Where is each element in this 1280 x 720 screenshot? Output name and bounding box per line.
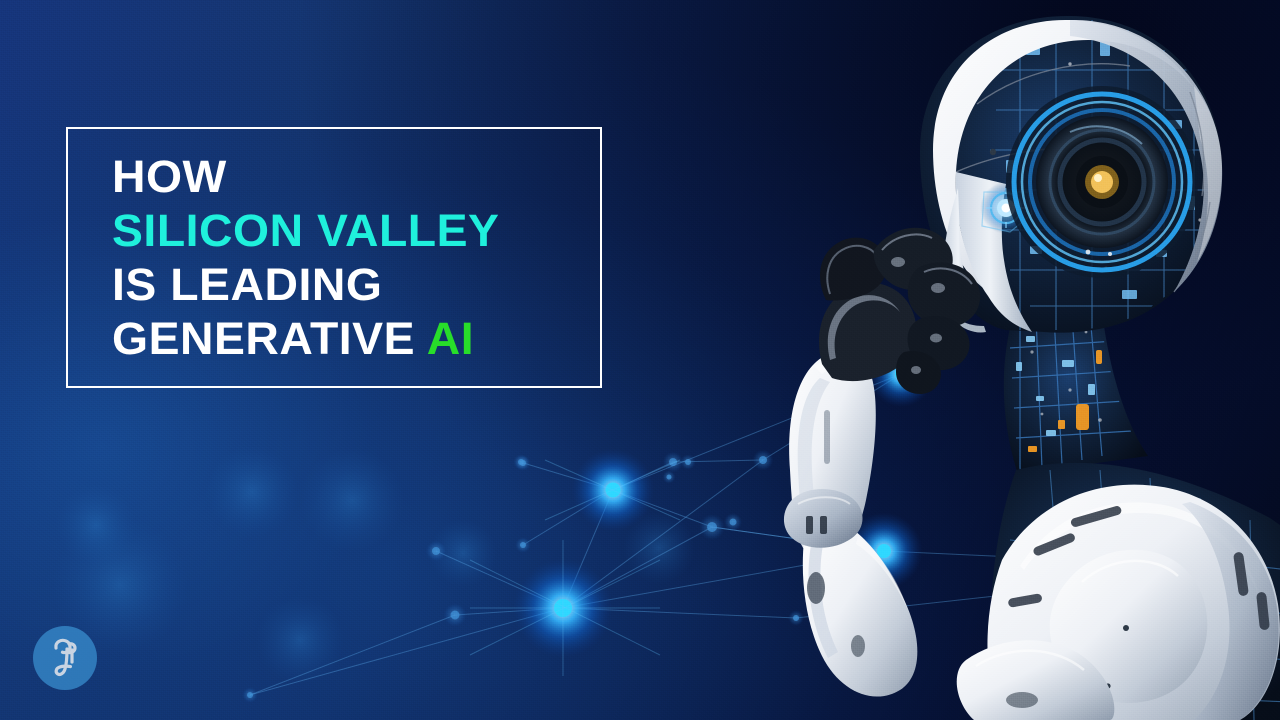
network-node-glow bbox=[663, 452, 684, 473]
title-line-3: IS LEADING bbox=[112, 258, 499, 312]
banner-canvas: HOW SILICON VALLEY IS LEADING GENERATIVE… bbox=[0, 0, 1280, 720]
network-edge bbox=[613, 490, 712, 527]
title-line-1: HOW bbox=[112, 150, 499, 204]
title-line-4-prefix: GENERATIVE bbox=[112, 313, 427, 364]
node-flare bbox=[470, 460, 680, 676]
network-node bbox=[730, 519, 737, 526]
network-node bbox=[554, 599, 572, 617]
network-node bbox=[247, 692, 253, 698]
brand-logo[interactable] bbox=[33, 626, 97, 690]
network-edge bbox=[455, 608, 563, 615]
network-edge bbox=[250, 608, 563, 695]
page-title: HOW SILICON VALLEY IS LEADING GENERATIVE… bbox=[112, 150, 488, 366]
network-node-glow bbox=[242, 687, 258, 703]
robot-torso bbox=[957, 463, 1280, 720]
network-edge bbox=[563, 527, 712, 608]
network-edge bbox=[250, 615, 455, 695]
network-edge bbox=[520, 462, 613, 490]
title-line-4: GENERATIVE AI bbox=[112, 312, 499, 366]
title-highlight-ai: AI bbox=[427, 313, 474, 364]
network-node-glow bbox=[515, 455, 531, 471]
network-edge bbox=[436, 551, 563, 608]
g-monogram-icon bbox=[45, 636, 85, 680]
network-node-glow bbox=[443, 603, 466, 626]
network-node bbox=[667, 475, 672, 480]
network-node bbox=[759, 456, 767, 464]
title-line-2: SILICON VALLEY bbox=[112, 204, 499, 258]
network-edge bbox=[523, 490, 613, 545]
network-node-glow bbox=[515, 537, 531, 553]
network-node-glow bbox=[699, 514, 725, 540]
background-bokeh bbox=[52, 446, 695, 684]
network-node bbox=[707, 522, 717, 532]
network-node bbox=[520, 460, 526, 466]
network-edge bbox=[563, 460, 763, 608]
network-node bbox=[520, 542, 526, 548]
network-node-glow bbox=[426, 541, 447, 562]
network-node bbox=[518, 459, 524, 465]
network-node-glow bbox=[663, 471, 676, 484]
network-node bbox=[669, 458, 677, 466]
network-node-glow bbox=[572, 449, 655, 532]
network-edge bbox=[563, 490, 613, 608]
network-node-glow bbox=[680, 454, 696, 470]
network-edge bbox=[563, 608, 796, 618]
network-node bbox=[432, 547, 440, 555]
network-node bbox=[606, 483, 621, 498]
network-edge bbox=[613, 462, 673, 490]
humanoid-robot-illustration bbox=[770, 0, 1280, 720]
robot-camera-lens-eye bbox=[1006, 86, 1198, 278]
title-frame: HOW SILICON VALLEY IS LEADING GENERATIVE… bbox=[66, 127, 602, 388]
robot-arm-and-hand bbox=[784, 228, 980, 697]
network-node-glow bbox=[513, 454, 529, 470]
robot-neck bbox=[1004, 312, 1148, 474]
network-node-glow bbox=[514, 559, 613, 658]
network-node bbox=[685, 459, 691, 465]
network-edge bbox=[673, 460, 763, 462]
network-node-glow bbox=[724, 513, 742, 531]
head-port bbox=[990, 149, 996, 155]
network-node bbox=[451, 611, 460, 620]
